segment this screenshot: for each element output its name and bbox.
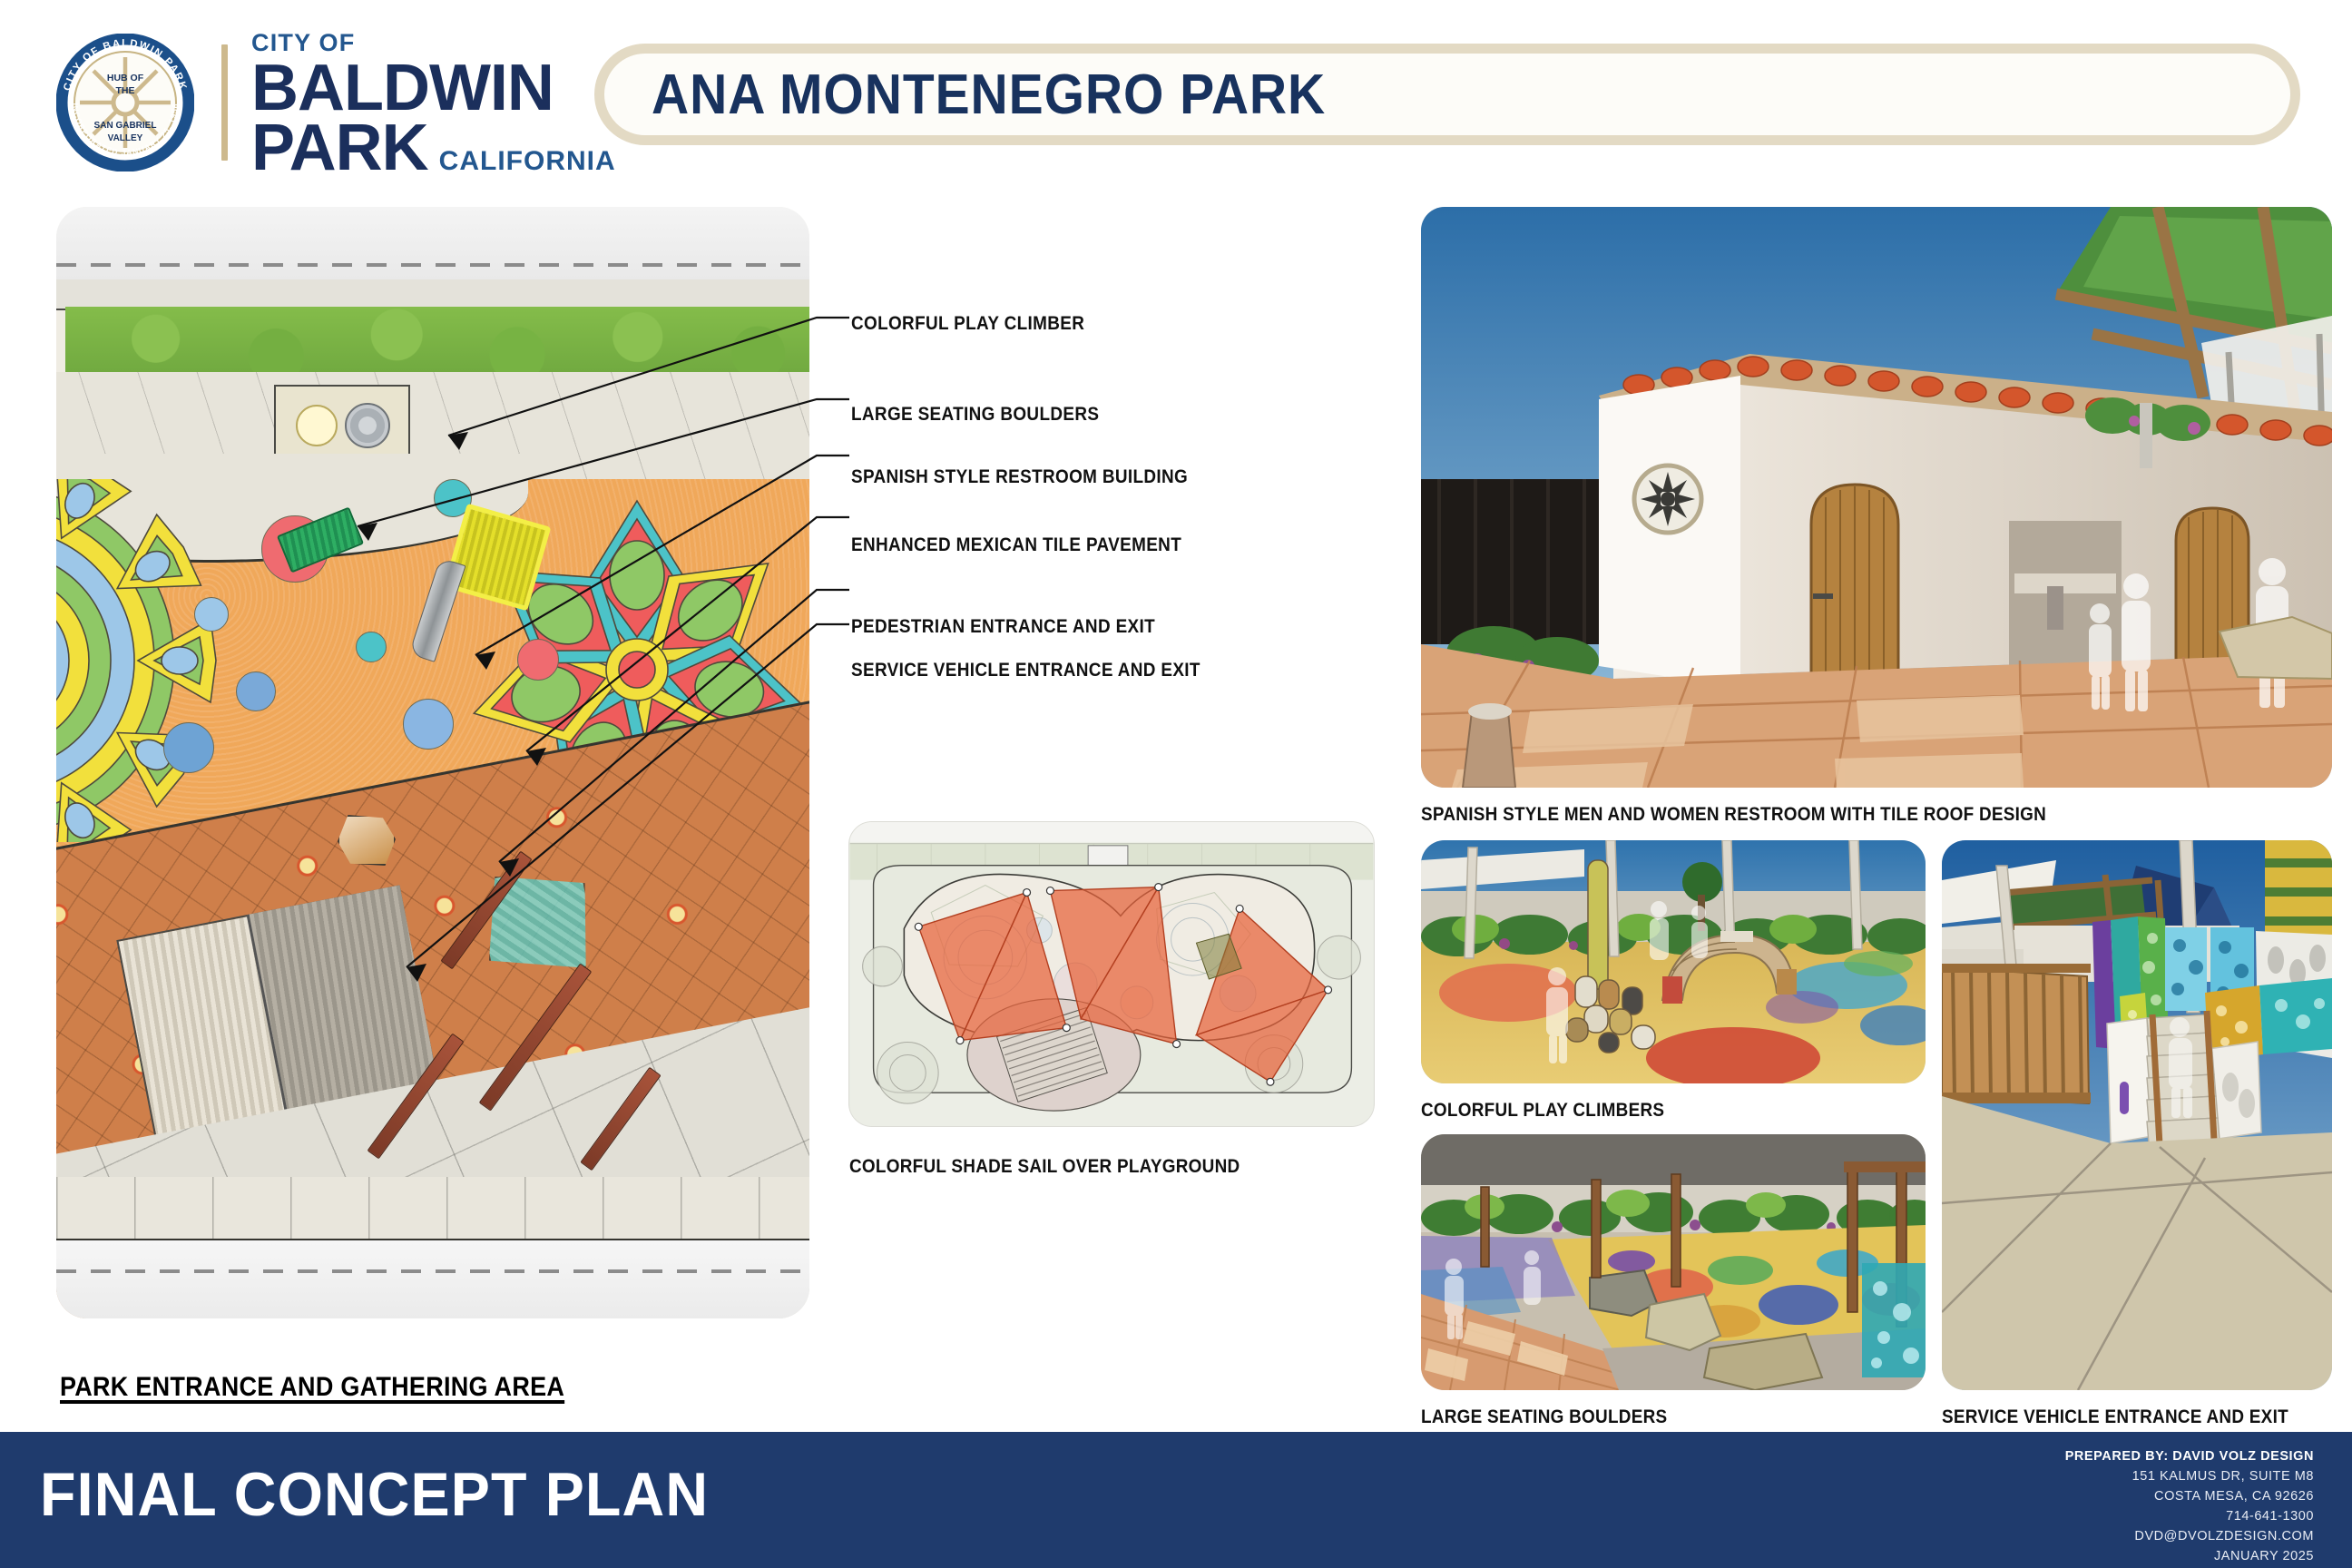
site-plan-caption: PARK ENTRANCE AND GATHERING AREA xyxy=(60,1372,564,1403)
city-logo: HUB OF THE SAN GABRIEL VALLEY CITY OF BA… xyxy=(56,27,616,178)
plan-sidewalk-bottom xyxy=(56,1177,809,1240)
plan-street-bottom xyxy=(56,1240,809,1318)
plan-street-top xyxy=(56,207,809,279)
credit-phone: 714-641-1300 xyxy=(2065,1506,2314,1526)
credit-email: DVD@DVOLZDESIGN.COM xyxy=(2065,1526,2314,1546)
svg-text:HUB OF: HUB OF xyxy=(107,73,144,83)
plan-mandala-pattern xyxy=(56,479,283,842)
credit-prepared-by: PREPARED BY: DAVID VOLZ DESIGN xyxy=(2065,1446,2314,1466)
plan-surface-dot xyxy=(517,639,559,681)
photo-play-climbers xyxy=(1421,840,1926,1083)
photo-restroom xyxy=(1421,207,2332,788)
plan-surface-dot xyxy=(356,632,387,662)
callout-label-pedestrian-entry: PEDESTRIAN ENTRANCE AND EXIT xyxy=(851,615,1155,638)
plan-surface-dot xyxy=(163,722,214,773)
svg-text:THE: THE xyxy=(116,85,135,96)
logo-park: PARK xyxy=(251,118,428,178)
page-footer: FINAL CONCEPT PLAN PREPARED BY: DAVID VO… xyxy=(0,1432,2352,1568)
logo-divider xyxy=(221,44,228,161)
title-banner: ANA MONTENEGRO PARK xyxy=(594,44,2300,145)
svg-text:VALLEY: VALLEY xyxy=(108,133,143,143)
callout-label-service-entry: SERVICE VEHICLE ENTRANCE AND EXIT xyxy=(851,659,1200,681)
page-header: HUB OF THE SAN GABRIEL VALLEY CITY OF BA… xyxy=(0,0,2352,195)
page-title: ANA MONTENEGRO PARK xyxy=(652,63,1326,127)
plan-seating-node xyxy=(274,385,410,462)
logo-california: CALIFORNIA xyxy=(439,148,616,175)
plan-surface-dot xyxy=(403,699,454,750)
callout-label-seating-boulders: LARGE SEATING BOULDERS xyxy=(851,403,1099,426)
plan-sidewalk-top xyxy=(56,279,809,310)
svg-text:SAN GABRIEL: SAN GABRIEL xyxy=(94,121,157,131)
photo-service-entrance xyxy=(1942,840,2332,1390)
plan-surface-dot xyxy=(194,597,229,632)
callout-label-restroom: SPANISH STYLE RESTROOM BUILDING xyxy=(851,465,1188,488)
plan-surface-dot xyxy=(236,671,276,711)
credit-address-1: 151 KALMUS DR, SUITE M8 xyxy=(2065,1466,2314,1486)
photo-seating-boulders xyxy=(1421,1134,1926,1390)
credit-date: JANUARY 2025 xyxy=(2065,1546,2314,1566)
shade-sail-plan-drawing xyxy=(848,821,1375,1127)
photo-caption-seating-boulders: LARGE SEATING BOULDERS xyxy=(1421,1405,1667,1430)
credits-block: PREPARED BY: DAVID VOLZ DESIGN 151 KALMU… xyxy=(2065,1446,2314,1566)
logo-wordmark: CITY OF BALDWIN PARK CALIFORNIA xyxy=(251,27,616,178)
sail-plan-caption: COLORFUL SHADE SAIL OVER PLAYGROUND xyxy=(849,1154,1240,1180)
callout-label-tile-pavement: ENHANCED MEXICAN TILE PAVEMENT xyxy=(851,534,1181,556)
concept-plan-board: HUB OF THE SAN GABRIEL VALLEY CITY OF BA… xyxy=(0,0,2352,1568)
callout-label-play-climber: COLORFUL PLAY CLIMBER xyxy=(851,312,1084,335)
logo-baldwin: BALDWIN xyxy=(251,58,616,118)
site-plan-drawing xyxy=(56,207,809,1318)
credit-address-2: COSTA MESA, CA 92626 xyxy=(2065,1486,2314,1506)
photo-caption-restroom: SPANISH STYLE MEN AND WOMEN RESTROOM WIT… xyxy=(1421,802,2046,828)
city-seal-icon: HUB OF THE SAN GABRIEL VALLEY CITY OF BA… xyxy=(56,34,194,171)
photo-caption-play-climbers: COLORFUL PLAY CLIMBERS xyxy=(1421,1098,1664,1123)
footer-title: FINAL CONCEPT PLAN xyxy=(40,1459,709,1530)
